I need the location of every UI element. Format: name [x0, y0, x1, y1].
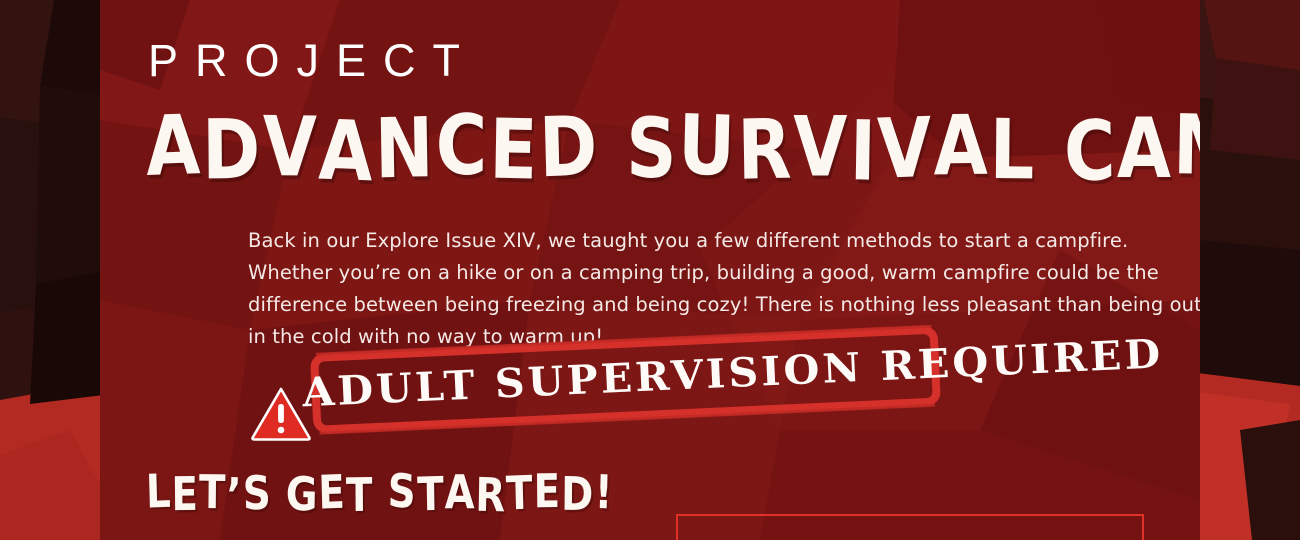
title-glyph: E: [534, 468, 562, 515]
title-glyph: S: [388, 468, 418, 515]
title-glyph: T: [417, 471, 445, 518]
title-glyph: [1037, 108, 1063, 191]
section-heading-lets-get-started: LET’S GET STARTED!: [146, 470, 613, 516]
title-glyph: V: [877, 107, 935, 191]
title-glyph: D: [561, 471, 595, 518]
title-glyph: I: [849, 110, 878, 193]
title-glyph: E: [489, 109, 540, 193]
title-glyph: V: [793, 107, 849, 190]
title-glyph: S: [242, 470, 272, 517]
title-glyph: N: [374, 107, 436, 191]
callout-box: [676, 514, 1144, 540]
title-glyph: A: [318, 110, 376, 194]
title-glyph: T: [346, 472, 374, 519]
content-panel: PROJECT ADVANCED SURVIVAL CAMPFIRES Back…: [100, 0, 1200, 540]
title-glyph: V: [262, 106, 319, 189]
title-glyph: A: [1117, 108, 1173, 191]
title-glyph: C: [1063, 110, 1118, 194]
title-glyph: U: [677, 104, 738, 188]
title-glyph: ’: [226, 472, 243, 519]
title-glyph: L: [990, 109, 1037, 192]
kicker-label: PROJECT: [148, 38, 477, 83]
title-glyph: [374, 470, 389, 516]
title-glyph: S: [625, 108, 678, 191]
title-glyph: D: [538, 106, 600, 191]
title-glyph: R: [737, 109, 794, 193]
title-glyph: A: [934, 105, 991, 188]
title-glyph: E: [318, 469, 347, 516]
title-glyph: A: [145, 104, 203, 188]
title-glyph: E: [172, 471, 200, 518]
title-glyph: D: [202, 109, 263, 192]
title-glyph: A: [445, 469, 476, 515]
page-title: ADVANCED SURVIVAL CAMPFIRES: [146, 108, 1200, 191]
title-glyph: M: [1173, 104, 1200, 188]
title-glyph: G: [285, 471, 319, 518]
poster-canvas: PROJECT ADVANCED SURVIVAL CAMPFIRES Back…: [0, 0, 1300, 540]
title-glyph: L: [145, 468, 172, 515]
title-glyph: T: [199, 469, 227, 516]
title-glyph: C: [436, 105, 489, 188]
title-glyph: [599, 108, 625, 191]
warning-row: ADULT SUPERVISION REQUIRED: [248, 348, 1008, 448]
title-glyph: [271, 470, 286, 516]
title-glyph: !: [594, 469, 614, 516]
panel-content: PROJECT ADVANCED SURVIVAL CAMPFIRES Back…: [100, 0, 1200, 540]
title-glyph: R: [475, 472, 507, 519]
title-glyph: T: [506, 469, 535, 516]
